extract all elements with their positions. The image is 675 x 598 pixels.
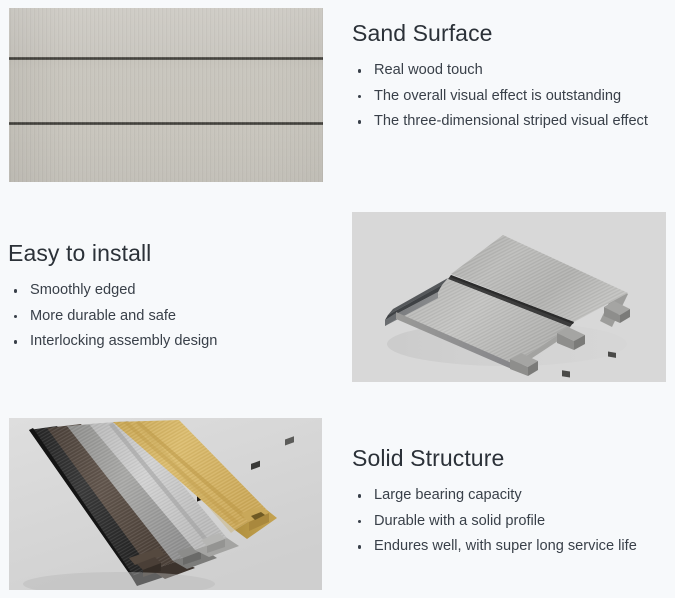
bullet-icon: [358, 120, 361, 123]
list-item: Smoothly edged: [8, 278, 328, 304]
bullet-icon: [358, 520, 361, 523]
bullet-icon: [358, 545, 361, 548]
feature-solid-structure: Solid Structure Large bearing capacity D…: [352, 445, 664, 560]
feature-sand-surface: Sand Surface Real wood touch The overall…: [352, 20, 664, 135]
list-item: The three-dimensional striped visual eff…: [352, 109, 664, 135]
list-item: Durable with a solid profile: [352, 509, 664, 535]
sand-surface-plank-photo: [9, 8, 323, 182]
bullet-icon: [358, 95, 361, 98]
feature-easy-to-install-heading: Easy to install: [8, 240, 328, 266]
bullet-icon: [14, 289, 17, 292]
bullet-icon: [14, 315, 17, 318]
sand-surface-shading: [9, 8, 323, 182]
stacked-profiles-scene: [9, 418, 322, 590]
list-item: More durable and safe: [8, 304, 328, 330]
list-item-label: The overall visual effect is outstanding: [374, 88, 621, 104]
list-item: The overall visual effect is outstanding: [352, 84, 664, 110]
list-item-label: Interlocking assembly design: [30, 333, 217, 349]
feature-solid-structure-list: Large bearing capacity Durable with a so…: [352, 483, 664, 560]
list-item-label: Real wood touch: [374, 62, 483, 78]
list-item-label: Smoothly edged: [30, 282, 135, 298]
list-item: Endures well, with super long service li…: [352, 534, 664, 560]
single-board-render: [352, 212, 666, 382]
board-render-scene: [352, 212, 666, 382]
list-item-label: Endures well, with super long service li…: [374, 538, 637, 554]
feature-sand-surface-list: Real wood touch The overall visual effec…: [352, 58, 664, 135]
stacked-profiles-photo: [9, 418, 322, 590]
bullet-icon: [14, 340, 17, 343]
bullet-icon: [358, 494, 361, 497]
bullet-icon: [358, 69, 361, 72]
list-item-label: Durable with a solid profile: [374, 513, 545, 529]
feature-grid: Sand Surface Real wood touch The overall…: [0, 0, 675, 598]
list-item: Real wood touch: [352, 58, 664, 84]
list-item-label: More durable and safe: [30, 308, 176, 324]
list-item: Large bearing capacity: [352, 483, 664, 509]
feature-solid-structure-heading: Solid Structure: [352, 445, 664, 471]
list-item: Interlocking assembly design: [8, 329, 328, 355]
feature-easy-to-install: Easy to install Smoothly edged More dura…: [8, 240, 328, 355]
list-item-label: Large bearing capacity: [374, 487, 522, 503]
feature-sand-surface-heading: Sand Surface: [352, 20, 664, 46]
list-item-label: The three-dimensional striped visual eff…: [374, 113, 648, 129]
feature-easy-to-install-list: Smoothly edged More durable and safe Int…: [8, 278, 328, 355]
